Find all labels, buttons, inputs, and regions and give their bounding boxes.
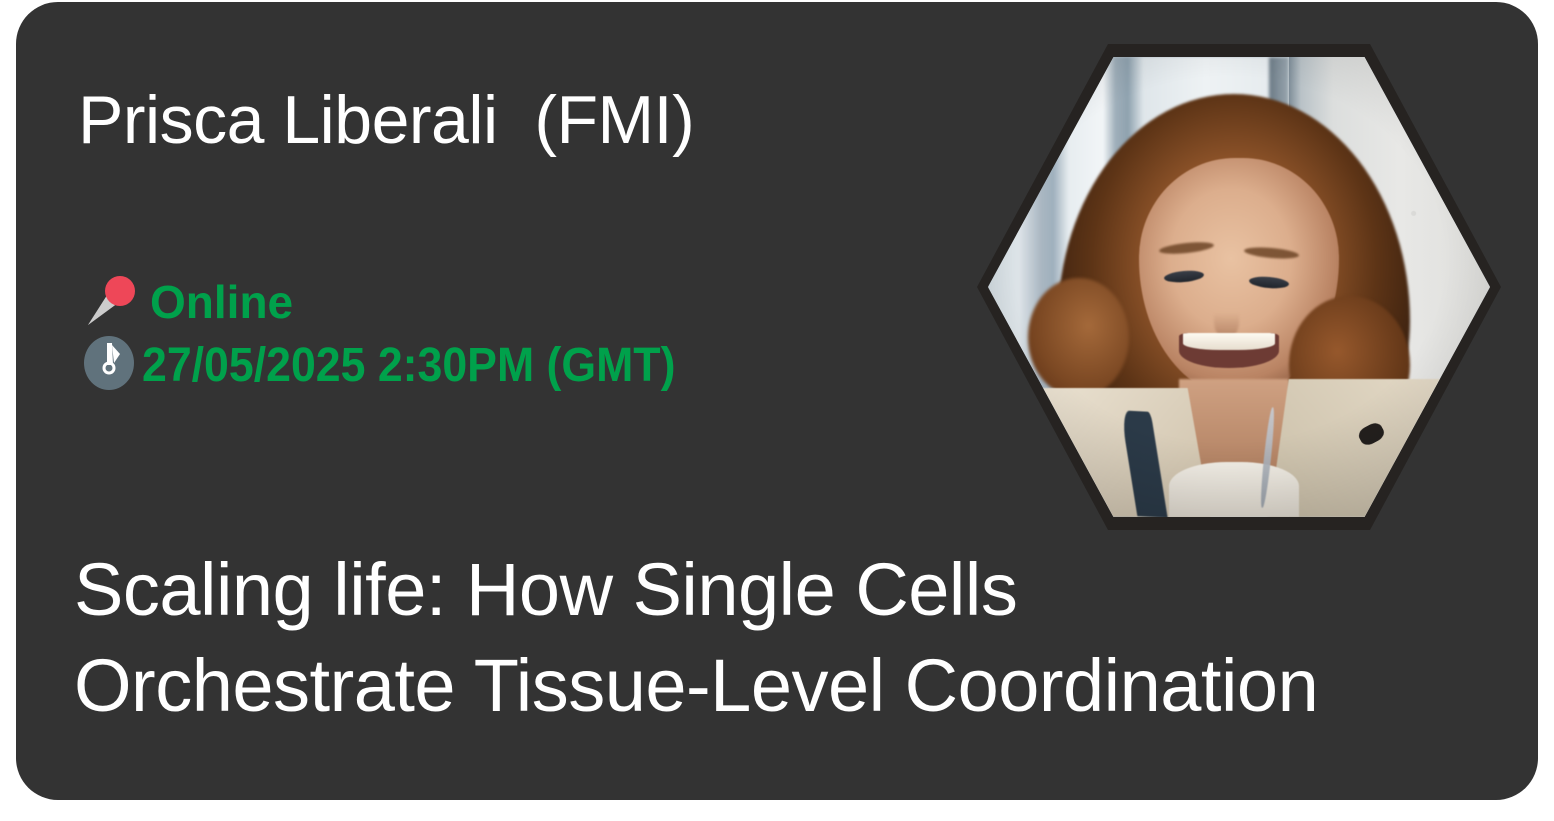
location-row: Online xyxy=(78,270,716,334)
talk-title-line-1: Scaling life: How Single Cells xyxy=(74,542,1524,638)
talk-title-line-2: Orchestrate Tissue-Level Coordination xyxy=(74,638,1524,734)
speaker-name: Prisca Liberali (FMI) xyxy=(78,80,694,160)
seminar-announcement-card: Prisca Liberali (FMI) Online xyxy=(16,2,1538,800)
datetime-label: 27/05/2025 2:30PM (GMT) xyxy=(142,342,675,390)
speaker-portrait xyxy=(977,44,1501,530)
seminar-meta-block: Online 27/05/2025 2:30PM (GMT) xyxy=(78,270,716,398)
pushpin-icon xyxy=(78,269,140,331)
talk-title: Scaling life: How Single Cells Orchestra… xyxy=(74,542,1524,734)
datetime-row: 27/05/2025 2:30PM (GMT) xyxy=(78,334,716,398)
speaker-photo xyxy=(988,57,1490,517)
clock-icon xyxy=(82,335,136,397)
location-label: Online xyxy=(150,279,293,325)
